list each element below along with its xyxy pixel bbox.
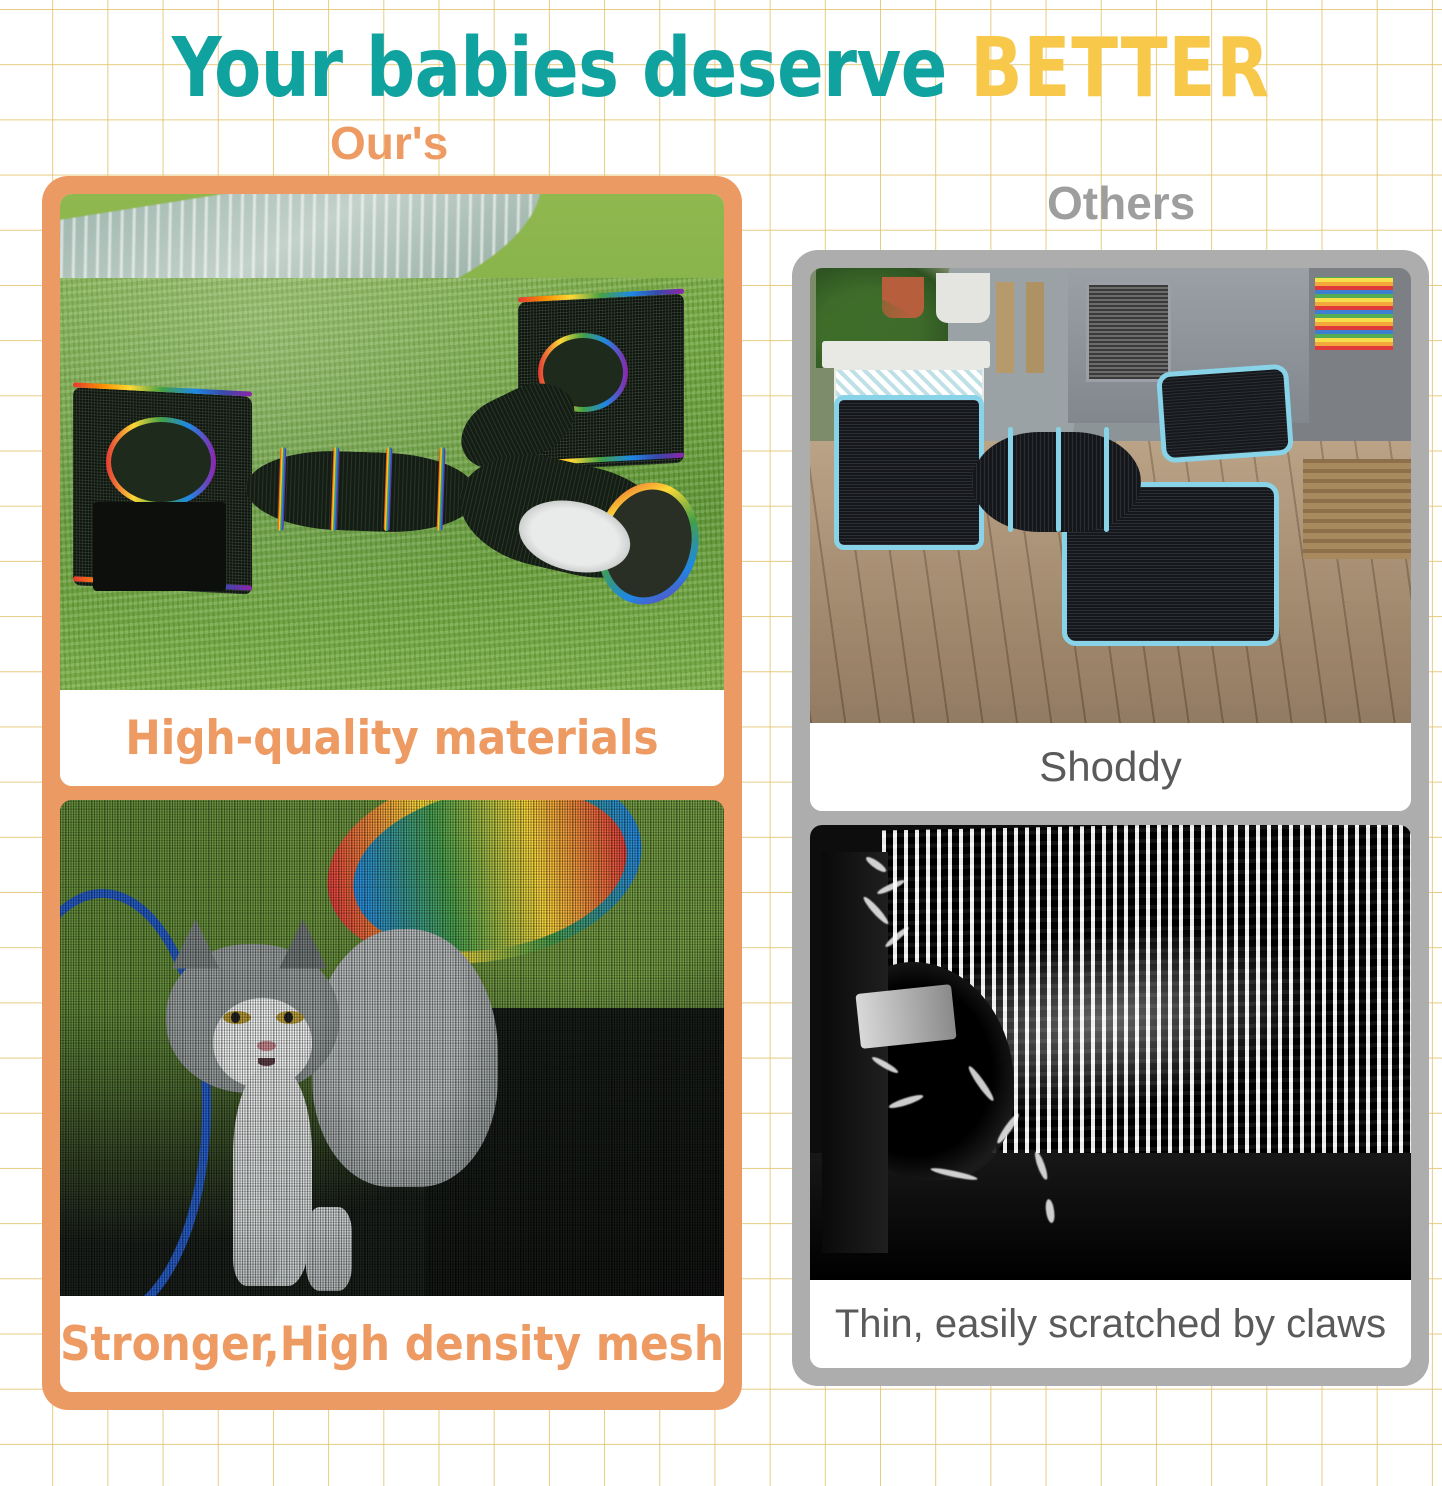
card-others-thin-mesh: Thin, easily scratched by claws bbox=[810, 825, 1411, 1368]
card-ours-dense-mesh: Stronger,High density mesh bbox=[60, 800, 724, 1392]
panel-ours: High-quality materials bbox=[42, 176, 742, 1410]
caption-ours-2: Stronger,High density mesh bbox=[60, 1296, 724, 1392]
caption-others-2: Thin, easily scratched by claws bbox=[810, 1280, 1411, 1368]
column-label-others: Others bbox=[1047, 178, 1195, 228]
card-ours-high-quality: High-quality materials bbox=[60, 194, 724, 786]
page-title-part-2: BETTER bbox=[970, 21, 1270, 116]
card-others-shoddy: Shoddy bbox=[810, 268, 1411, 811]
photo-cat-behind-mesh bbox=[60, 800, 724, 1296]
panel-others: Shoddy Thin, eas bbox=[792, 250, 1429, 1386]
photo-torn-mesh bbox=[810, 825, 1411, 1280]
photo-rainbow-pet-tent bbox=[60, 194, 724, 690]
page-title: Your babies deserve BETTER bbox=[50, 26, 1391, 112]
caption-others-1: Shoddy bbox=[810, 723, 1411, 811]
photo-blue-trim-tunnel-deck bbox=[810, 268, 1411, 723]
page-title-part-1: Your babies deserve bbox=[172, 21, 970, 116]
caption-ours-1: High-quality materials bbox=[60, 690, 724, 786]
column-label-ours: Our's bbox=[330, 118, 448, 168]
